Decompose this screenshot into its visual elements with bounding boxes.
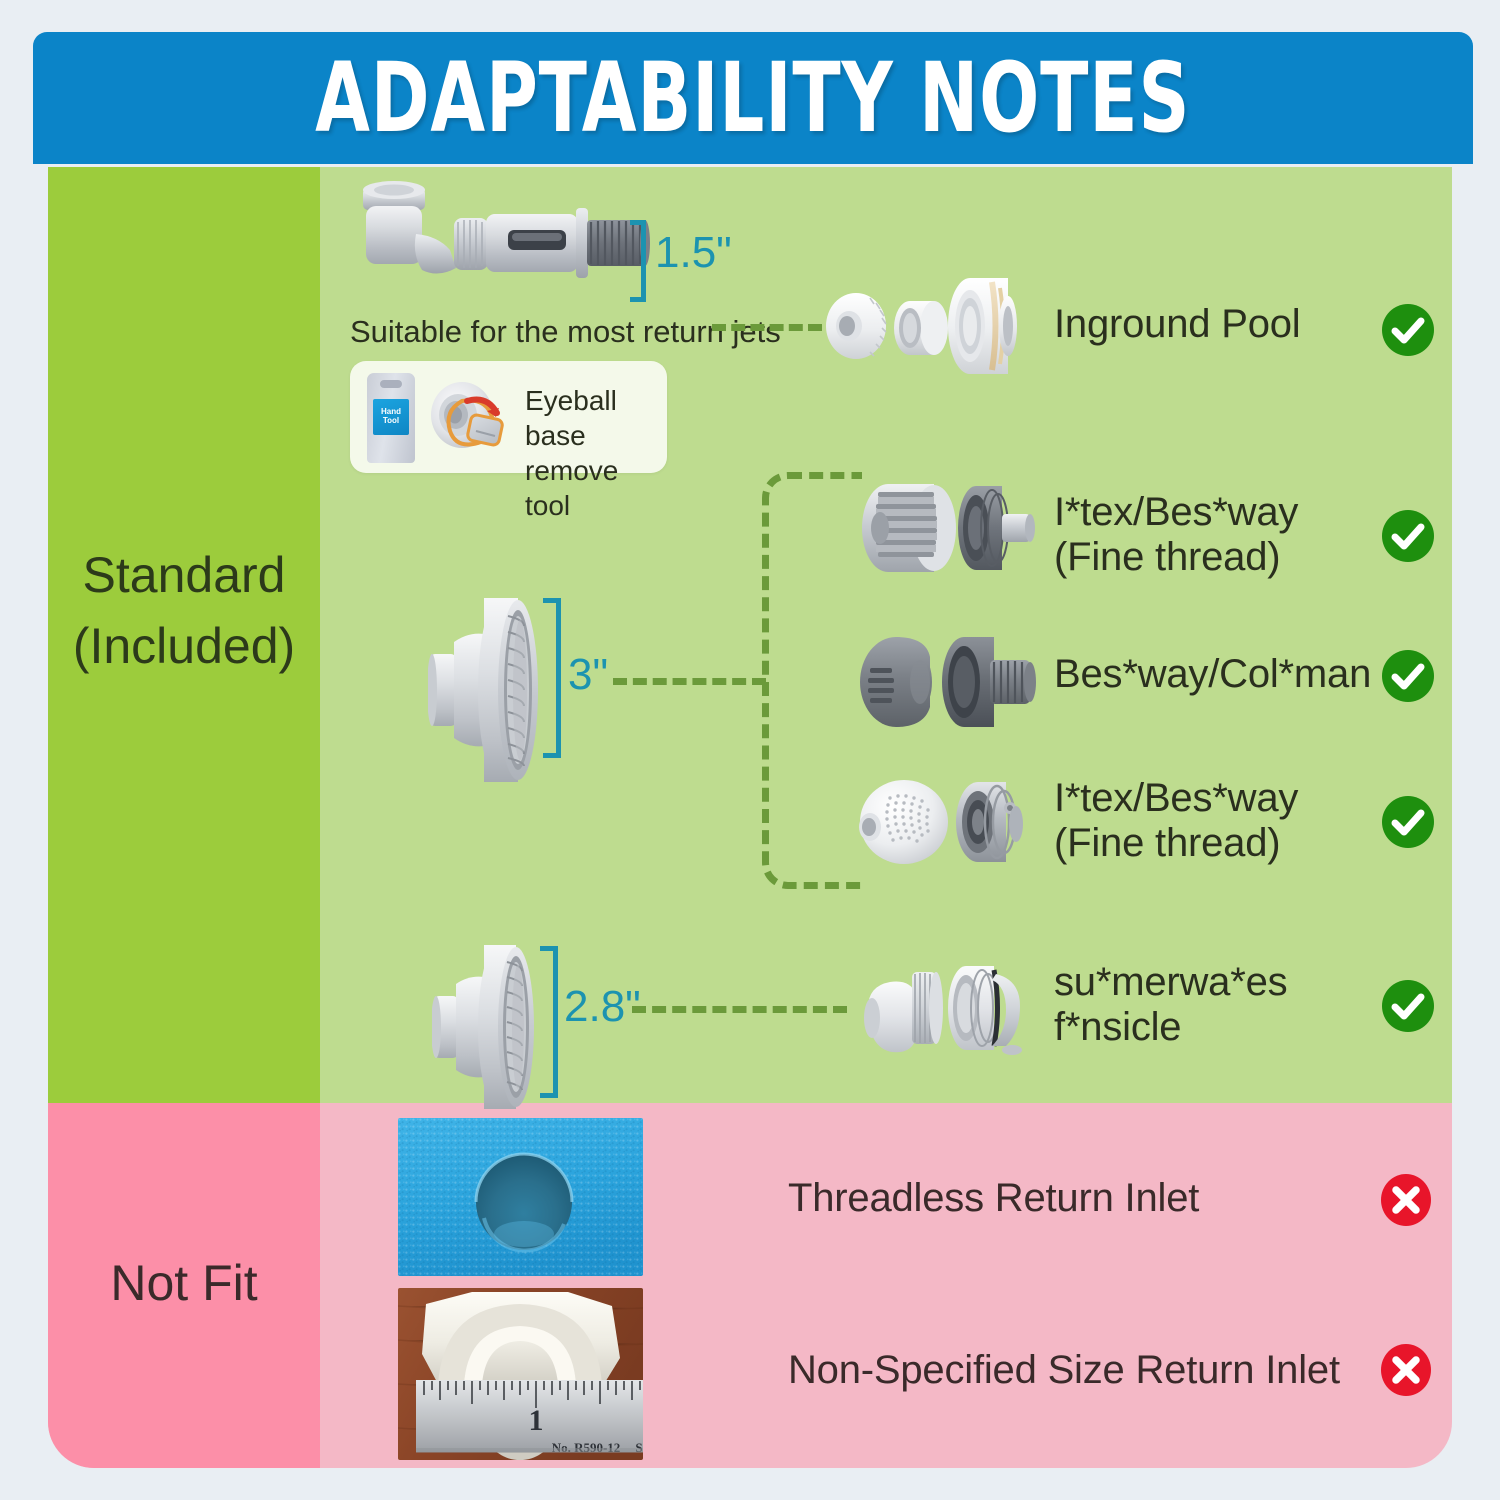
category-label-not-fit: Not Fit <box>48 1248 320 1319</box>
connector-inground-pool <box>712 324 822 331</box>
eyeball-tool-card: Hand Tool <box>350 361 667 473</box>
category-label-standard: Standard (Included) <box>48 540 320 682</box>
group-bracket-three-inch <box>762 472 862 889</box>
dimension-label-1-5in: 1.5" <box>655 228 732 278</box>
bestway-coleman-fitting-art <box>848 630 1040 734</box>
row-label-non-specified-size-return-inlet: Non-Specified Size Return Inlet <box>788 1348 1340 1393</box>
row-label-inground-pool: Inground Pool <box>1054 302 1300 347</box>
dimension-bracket-1-5in <box>630 220 646 302</box>
status-badge-cross-non-specified-size-return-inlet <box>1378 1342 1434 1398</box>
page-title: ADAPTABILITY NOTES <box>315 42 1190 154</box>
status-badge-cross-threadless-return-inlet <box>1378 1172 1434 1228</box>
row-label-intex-bestway-fine-1: I*tex/Bes*way (Fine thread) <box>1054 490 1298 580</box>
connector-summerwaves-funsicle <box>632 1006 847 1013</box>
inground-pool-fitting-art <box>818 274 1030 378</box>
row-label-summerwaves-funsicle: su*merwa*es f*nsicle <box>1054 960 1287 1050</box>
dimension-bracket-3in <box>543 598 561 758</box>
ruler-number: 1 <box>529 1404 544 1437</box>
status-badge-check-bestway-coleman <box>1380 648 1436 704</box>
status-badge-check-intex-bestway-fine-1 <box>1380 508 1436 564</box>
dimension-bracket-2-8in <box>540 946 558 1098</box>
connector-three-inch-group <box>613 678 766 685</box>
hand-tool-label: Hand Tool <box>373 399 409 435</box>
suitable-note: Suitable for the most return jets <box>350 314 781 350</box>
dimension-label-2-8in: 2.8" <box>564 982 641 1032</box>
status-badge-check-intex-bestway-fine-2 <box>1380 794 1436 850</box>
intex-bestway-fine-thread-art-2 <box>848 772 1040 872</box>
hand-tool-package: Hand Tool <box>367 373 415 463</box>
status-badge-check-inground-pool <box>1380 302 1436 358</box>
infographic-root: ADAPTABILITY NOTES Standard (Included) N… <box>0 0 1500 1500</box>
status-badge-check-summerwaves-funsicle <box>1380 978 1436 1034</box>
package-hang-hole <box>380 380 402 388</box>
summerwaves-funsicle-fitting-art <box>862 956 1040 1060</box>
dimension-label-3in: 3" <box>568 650 608 700</box>
photo-threadless-return-inlet <box>398 1118 643 1276</box>
return-jet-adapter-art <box>358 178 658 298</box>
intex-bestway-fine-thread-art-1 <box>848 480 1040 576</box>
row-label-threadless-return-inlet: Threadless Return Inlet <box>788 1176 1199 1221</box>
eyeball-remove-tool-icon <box>422 375 514 461</box>
eyeball-tool-label: Eyeball base remove tool <box>525 383 667 523</box>
row-label-intex-bestway-fine-2: I*tex/Bes*way (Fine thread) <box>1054 776 1298 866</box>
header-banner: ADAPTABILITY NOTES <box>33 32 1473 164</box>
photo-non-specified-size-return-inlet: 1 No. R590-12 S <box>398 1288 643 1460</box>
row-label-bestway-coleman: Bes*way/Col*man <box>1054 652 1371 697</box>
